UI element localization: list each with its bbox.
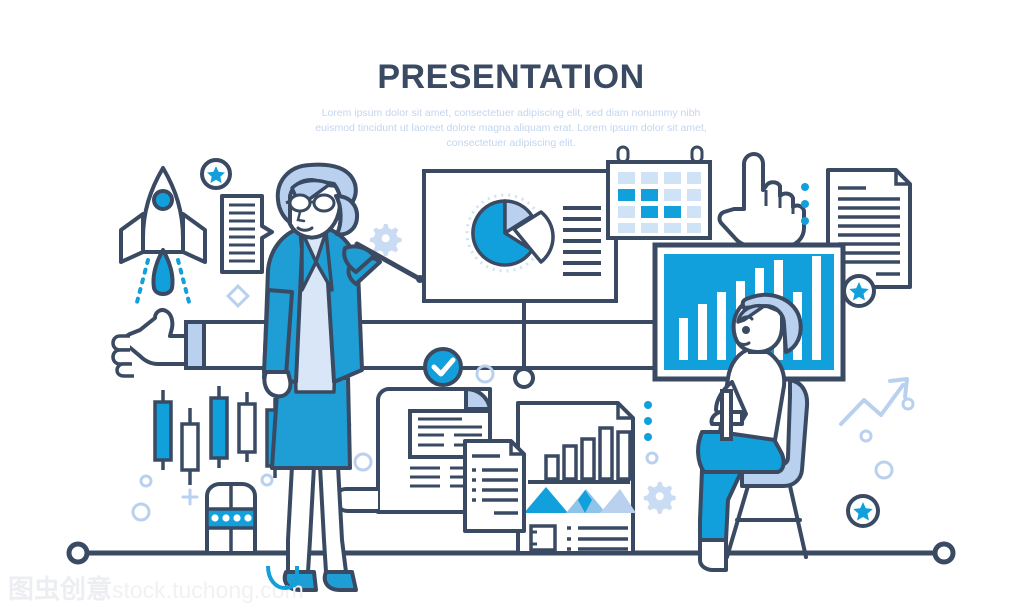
check-circle-icon xyxy=(425,349,461,385)
board-text-lines xyxy=(563,208,601,274)
pen-icon xyxy=(722,391,731,439)
star-badge-icon-top xyxy=(202,160,230,188)
presentation-illustration: PRESENTATION Lorem ipsum dolor sit amet,… xyxy=(0,0,1023,614)
deco-dots-report xyxy=(644,401,652,441)
star-badge-icon-bottom xyxy=(848,496,878,526)
baseline-left-endpoint xyxy=(69,544,87,562)
server-rack-icon xyxy=(207,484,255,553)
board-stand-foot xyxy=(515,369,533,387)
subtitle-line-2: euismod tincidunt ut laoreet dolore magn… xyxy=(315,122,707,134)
subtitle-line-3: consectetuer adipiscing elit. xyxy=(447,137,576,149)
note-page xyxy=(465,441,524,531)
dots-right-of-hand xyxy=(801,183,809,225)
baseline-right-endpoint xyxy=(935,544,953,562)
hair-bun xyxy=(336,196,357,234)
gear-icon-bottom xyxy=(644,482,676,514)
wall-calendar xyxy=(608,147,710,238)
page-title: PRESENTATION xyxy=(377,58,644,96)
report-page xyxy=(518,403,636,553)
subtitle-line-1: Lorem ipsum dolor sit amet, consectetuer… xyxy=(322,107,701,119)
watermark-latin: stock.tuchong.com xyxy=(112,577,304,603)
watermark-chinese: 图虫创意 xyxy=(8,574,112,604)
star-badge-icon-monitor xyxy=(844,276,874,306)
illustration-canvas: PRESENTATION Lorem ipsum dolor sit amet,… xyxy=(0,0,1023,614)
